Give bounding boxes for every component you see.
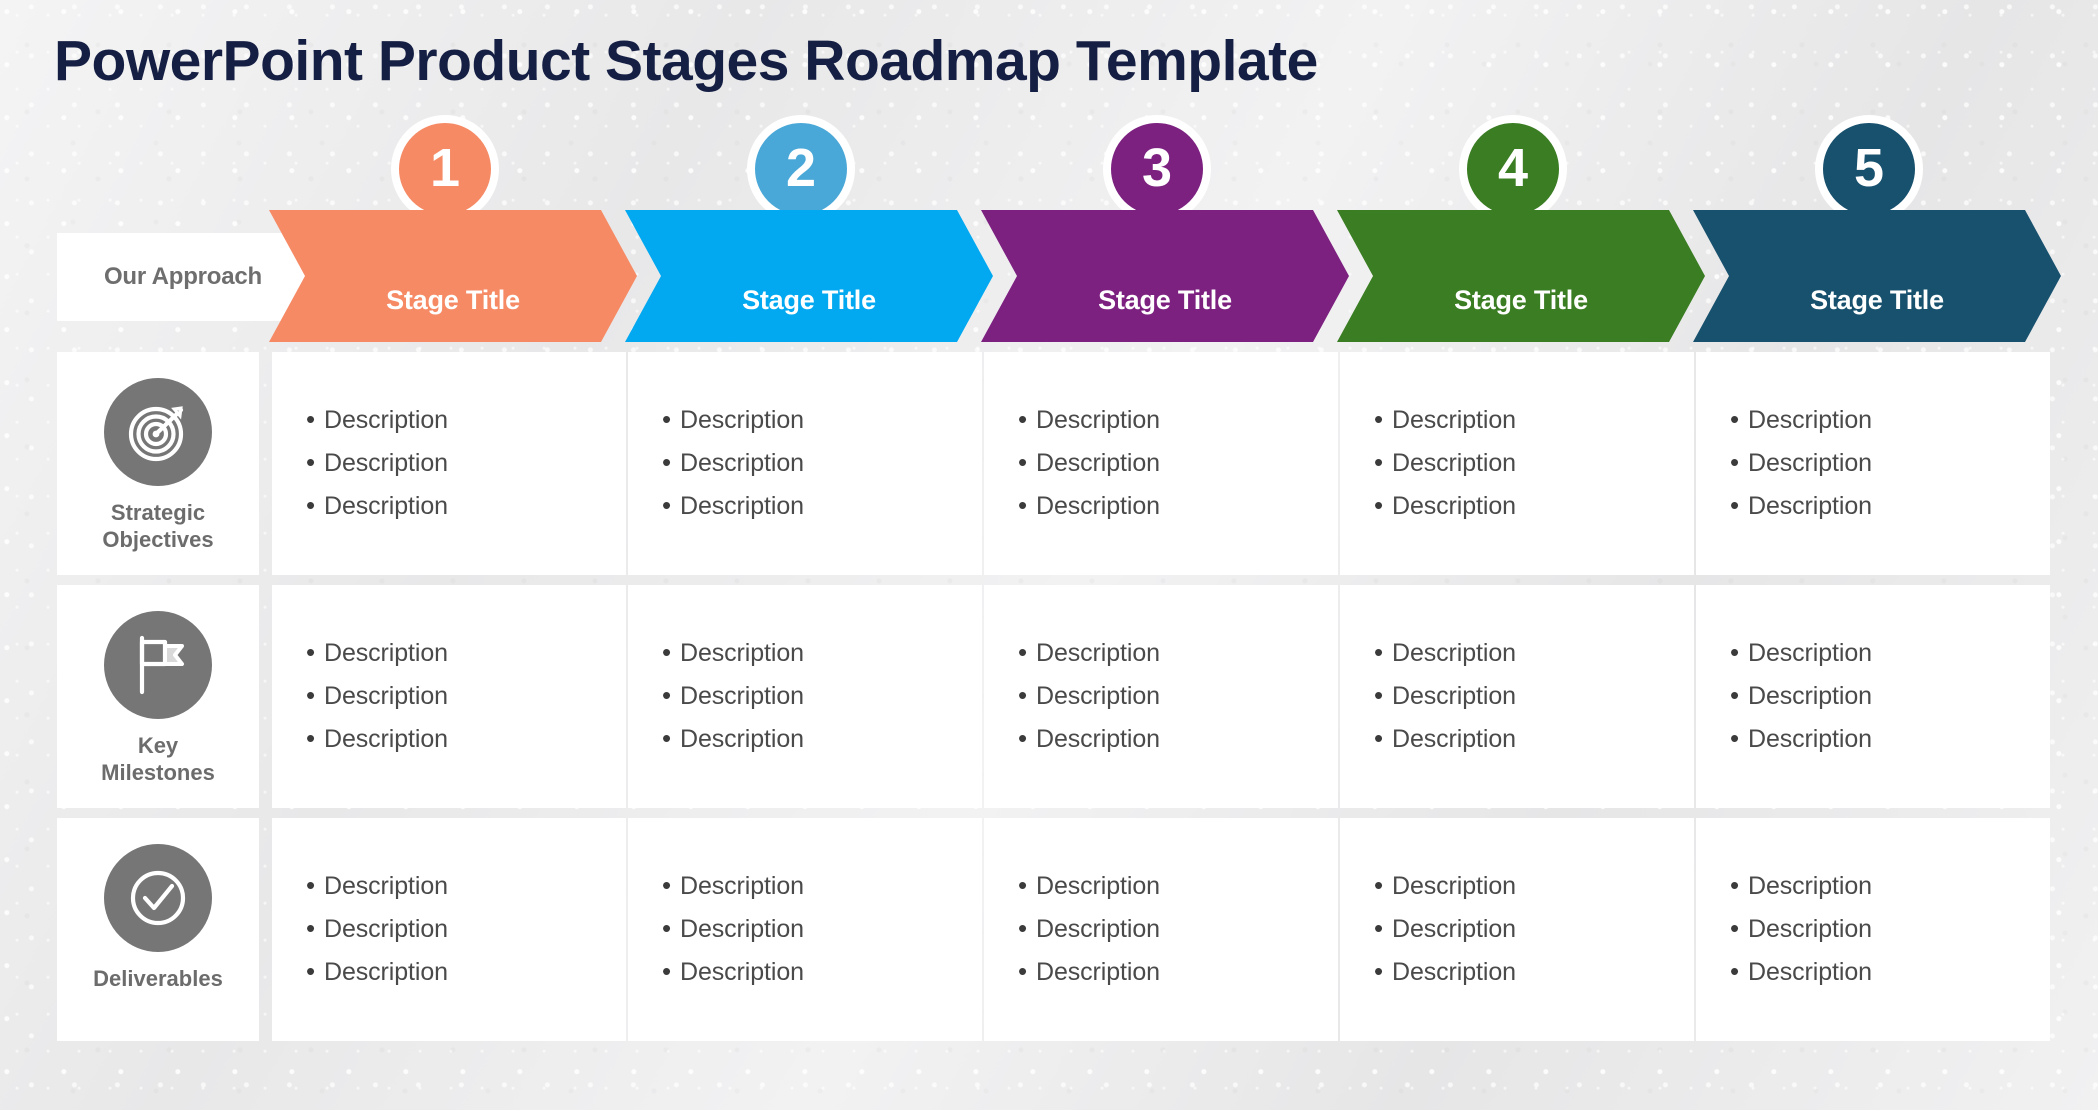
description-card-r3-c3[interactable]: •Description•Description•Description xyxy=(984,818,1338,1041)
roadmap-grid: StrategicObjectives•Description•Descript… xyxy=(0,0,2098,1110)
bullet-dot-icon: • xyxy=(306,406,324,432)
description-card-r2-c4[interactable]: •Description•Description•Description xyxy=(1340,585,1694,808)
bullet-dot-icon: • xyxy=(1730,958,1748,984)
stage-number-label: 4 xyxy=(1498,141,1528,195)
row-label-line2: Objectives xyxy=(102,527,213,552)
bullet-dot-icon: • xyxy=(1374,915,1392,941)
bullet-dot-icon: • xyxy=(662,406,680,432)
stage-title-1: Stage Title xyxy=(386,285,520,342)
list-item: •Description xyxy=(662,915,982,944)
list-item: •Description xyxy=(662,639,982,668)
bullet-dot-icon: • xyxy=(306,725,324,751)
list-item: •Description xyxy=(1018,406,1338,435)
row-label-line1: Strategic xyxy=(111,500,205,525)
list-item: •Description xyxy=(1374,406,1694,435)
list-item: •Description xyxy=(1374,958,1694,987)
stage-number-circle-3[interactable]: 3 xyxy=(1103,115,1211,223)
bullet-dot-icon: • xyxy=(662,492,680,518)
bullet-text: Description xyxy=(1748,725,1872,754)
description-card-r1-c1[interactable]: •Description•Description•Description xyxy=(272,352,626,575)
bullet-dot-icon: • xyxy=(1018,639,1036,665)
row-label-card-1: StrategicObjectives xyxy=(57,352,259,575)
row-label-line1: Key xyxy=(138,733,178,758)
bullet-text: Description xyxy=(1392,449,1516,478)
bullet-text: Description xyxy=(680,492,804,521)
bullet-text: Description xyxy=(324,449,448,478)
bullet-text: Description xyxy=(1748,872,1872,901)
bullet-text: Description xyxy=(1036,872,1160,901)
bullet-text: Description xyxy=(680,872,804,901)
bullet-text: Description xyxy=(680,682,804,711)
stage-arrow-2[interactable]: Stage Title xyxy=(625,210,993,342)
bullet-text: Description xyxy=(1392,406,1516,435)
row-label-card-3: Deliverables xyxy=(57,818,259,1041)
bullet-dot-icon: • xyxy=(1018,958,1036,984)
bullet-dot-icon: • xyxy=(1374,958,1392,984)
bullet-text: Description xyxy=(324,682,448,711)
description-card-r2-c2[interactable]: •Description•Description•Description xyxy=(628,585,982,808)
list-item: •Description xyxy=(1018,872,1338,901)
bullet-dot-icon: • xyxy=(662,639,680,665)
description-card-r3-c2[interactable]: •Description•Description•Description xyxy=(628,818,982,1041)
bullet-dot-icon: • xyxy=(1730,639,1748,665)
stage-title-5: Stage Title xyxy=(1810,285,1944,342)
bullet-text: Description xyxy=(1748,492,1872,521)
stage-title-4: Stage Title xyxy=(1454,285,1588,342)
row-label-text-1: StrategicObjectives xyxy=(102,500,213,554)
bullet-dot-icon: • xyxy=(1374,492,1392,518)
bullet-dot-icon: • xyxy=(1730,492,1748,518)
list-item: •Description xyxy=(1730,682,2050,711)
list-item: •Description xyxy=(1730,872,2050,901)
bullet-dot-icon: • xyxy=(1374,682,1392,708)
bullet-dot-icon: • xyxy=(1018,682,1036,708)
bullet-dot-icon: • xyxy=(1018,492,1036,518)
list-item: •Description xyxy=(1018,449,1338,478)
stage-number-label: 3 xyxy=(1142,141,1172,195)
list-item: •Description xyxy=(1730,492,2050,521)
list-item: •Description xyxy=(1730,915,2050,944)
bullet-text: Description xyxy=(1036,639,1160,668)
list-item: •Description xyxy=(306,682,626,711)
list-item: •Description xyxy=(1374,725,1694,754)
bullet-dot-icon: • xyxy=(662,725,680,751)
description-card-r1-c4[interactable]: •Description•Description•Description xyxy=(1340,352,1694,575)
list-item: •Description xyxy=(1730,406,2050,435)
list-item: •Description xyxy=(306,449,626,478)
bullet-text: Description xyxy=(1036,449,1160,478)
bullet-text: Description xyxy=(1036,915,1160,944)
stage-number-circle-1[interactable]: 1 xyxy=(391,115,499,223)
list-item: •Description xyxy=(662,958,982,987)
bullet-text: Description xyxy=(680,639,804,668)
bullet-dot-icon: • xyxy=(662,915,680,941)
list-item: •Description xyxy=(662,492,982,521)
bullet-dot-icon: • xyxy=(1374,639,1392,665)
bullet-text: Description xyxy=(324,639,448,668)
list-item: •Description xyxy=(1374,639,1694,668)
list-item: •Description xyxy=(1018,492,1338,521)
bullet-dot-icon: • xyxy=(662,682,680,708)
description-card-r2-c3[interactable]: •Description•Description•Description xyxy=(984,585,1338,808)
bullet-text: Description xyxy=(324,725,448,754)
stage-number-label: 1 xyxy=(430,141,460,195)
bullet-dot-icon: • xyxy=(1018,725,1036,751)
stage-arrow-3[interactable]: Stage Title xyxy=(981,210,1349,342)
bullet-text: Description xyxy=(680,725,804,754)
bullet-text: Description xyxy=(1748,449,1872,478)
bullet-dot-icon: • xyxy=(1018,872,1036,898)
bullet-text: Description xyxy=(1036,492,1160,521)
list-item: •Description xyxy=(1018,915,1338,944)
bullet-dot-icon: • xyxy=(306,915,324,941)
stage-number-circle-5[interactable]: 5 xyxy=(1815,115,1923,223)
bullet-text: Description xyxy=(1392,492,1516,521)
bullet-dot-icon: • xyxy=(662,872,680,898)
stage-title-2: Stage Title xyxy=(742,285,876,342)
list-item: •Description xyxy=(1730,958,2050,987)
bullet-text: Description xyxy=(1392,958,1516,987)
bullet-dot-icon: • xyxy=(662,449,680,475)
bullet-dot-icon: • xyxy=(1730,406,1748,432)
bullet-dot-icon: • xyxy=(1730,725,1748,751)
list-item: •Description xyxy=(306,958,626,987)
bullet-text: Description xyxy=(1748,682,1872,711)
stage-arrow-1[interactable]: Stage Title xyxy=(269,210,637,342)
list-item: •Description xyxy=(1018,725,1338,754)
bullet-text: Description xyxy=(1748,915,1872,944)
list-item: •Description xyxy=(1730,449,2050,478)
row-label-text-3: Deliverables xyxy=(93,966,223,993)
description-card-r1-c3[interactable]: •Description•Description•Description xyxy=(984,352,1338,575)
list-item: •Description xyxy=(662,682,982,711)
bullet-dot-icon: • xyxy=(1730,872,1748,898)
stage-arrow-4[interactable]: Stage Title xyxy=(1337,210,1705,342)
bullet-text: Description xyxy=(1392,915,1516,944)
bullet-dot-icon: • xyxy=(1374,406,1392,432)
bullet-dot-icon: • xyxy=(1730,915,1748,941)
bullet-text: Description xyxy=(324,915,448,944)
description-card-r2-c1[interactable]: •Description•Description•Description xyxy=(272,585,626,808)
bullet-text: Description xyxy=(324,406,448,435)
bullet-text: Description xyxy=(324,958,448,987)
bullet-text: Description xyxy=(1748,406,1872,435)
bullet-text: Description xyxy=(680,915,804,944)
bullet-dot-icon: • xyxy=(306,492,324,518)
bullet-text: Description xyxy=(1036,682,1160,711)
list-item: •Description xyxy=(662,449,982,478)
bullet-dot-icon: • xyxy=(306,958,324,984)
bullet-text: Description xyxy=(1392,872,1516,901)
list-item: •Description xyxy=(662,872,982,901)
description-card-r1-c2[interactable]: •Description•Description•Description xyxy=(628,352,982,575)
bullet-text: Description xyxy=(324,492,448,521)
bullet-dot-icon: • xyxy=(662,958,680,984)
row-label-card-2: KeyMilestones xyxy=(57,585,259,808)
stage-number-label: 5 xyxy=(1854,141,1884,195)
list-item: •Description xyxy=(306,725,626,754)
bullet-dot-icon: • xyxy=(306,682,324,708)
bullet-text: Description xyxy=(1748,639,1872,668)
bullet-dot-icon: • xyxy=(1018,406,1036,432)
bullet-text: Description xyxy=(1036,725,1160,754)
flag-icon xyxy=(104,611,212,719)
bullet-dot-icon: • xyxy=(1018,449,1036,475)
bullet-dot-icon: • xyxy=(1018,915,1036,941)
list-item: •Description xyxy=(306,406,626,435)
stage-title-3: Stage Title xyxy=(1098,285,1232,342)
stage-number-circle-2[interactable]: 2 xyxy=(747,115,855,223)
stage-number-circle-4[interactable]: 4 xyxy=(1459,115,1567,223)
bullet-dot-icon: • xyxy=(306,449,324,475)
stage-number-label: 2 xyxy=(786,141,816,195)
bullet-text: Description xyxy=(1392,725,1516,754)
description-card-r3-c5[interactable]: •Description•Description•Description xyxy=(1696,818,2050,1041)
bullet-text: Description xyxy=(680,449,804,478)
list-item: •Description xyxy=(1374,872,1694,901)
description-card-r2-c5[interactable]: •Description•Description•Description xyxy=(1696,585,2050,808)
bullet-text: Description xyxy=(1036,958,1160,987)
bullet-text: Description xyxy=(680,958,804,987)
bullet-text: Description xyxy=(1748,958,1872,987)
bullet-dot-icon: • xyxy=(1374,872,1392,898)
bullet-text: Description xyxy=(680,406,804,435)
list-item: •Description xyxy=(1018,958,1338,987)
list-item: •Description xyxy=(1374,915,1694,944)
row-label-text-2: KeyMilestones xyxy=(101,733,215,787)
list-item: •Description xyxy=(1018,682,1338,711)
bullet-dot-icon: • xyxy=(1374,725,1392,751)
list-item: •Description xyxy=(306,872,626,901)
stage-arrow-5[interactable]: Stage Title xyxy=(1693,210,2061,342)
description-card-r3-c1[interactable]: •Description•Description•Description xyxy=(272,818,626,1041)
target-icon xyxy=(104,378,212,486)
bullet-dot-icon: • xyxy=(306,872,324,898)
list-item: •Description xyxy=(1374,682,1694,711)
bullet-text: Description xyxy=(1392,639,1516,668)
bullet-dot-icon: • xyxy=(306,639,324,665)
list-item: •Description xyxy=(306,639,626,668)
bullet-dot-icon: • xyxy=(1374,449,1392,475)
list-item: •Description xyxy=(1374,492,1694,521)
bullet-text: Description xyxy=(1036,406,1160,435)
list-item: •Description xyxy=(1374,449,1694,478)
list-item: •Description xyxy=(662,725,982,754)
list-item: •Description xyxy=(1730,725,2050,754)
check-circle-icon xyxy=(104,844,212,952)
description-card-r3-c4[interactable]: •Description•Description•Description xyxy=(1340,818,1694,1041)
list-item: •Description xyxy=(1730,639,2050,668)
list-item: •Description xyxy=(1018,639,1338,668)
bullet-text: Description xyxy=(1392,682,1516,711)
list-item: •Description xyxy=(306,915,626,944)
bullet-dot-icon: • xyxy=(1730,682,1748,708)
row-label-line2: Milestones xyxy=(101,760,215,785)
bullet-text: Description xyxy=(324,872,448,901)
description-card-r1-c5[interactable]: •Description•Description•Description xyxy=(1696,352,2050,575)
bullet-dot-icon: • xyxy=(1730,449,1748,475)
list-item: •Description xyxy=(662,406,982,435)
stage-band: Our Approach Stage Title1Stage Title2Sta… xyxy=(0,210,2098,342)
list-item: •Description xyxy=(306,492,626,521)
